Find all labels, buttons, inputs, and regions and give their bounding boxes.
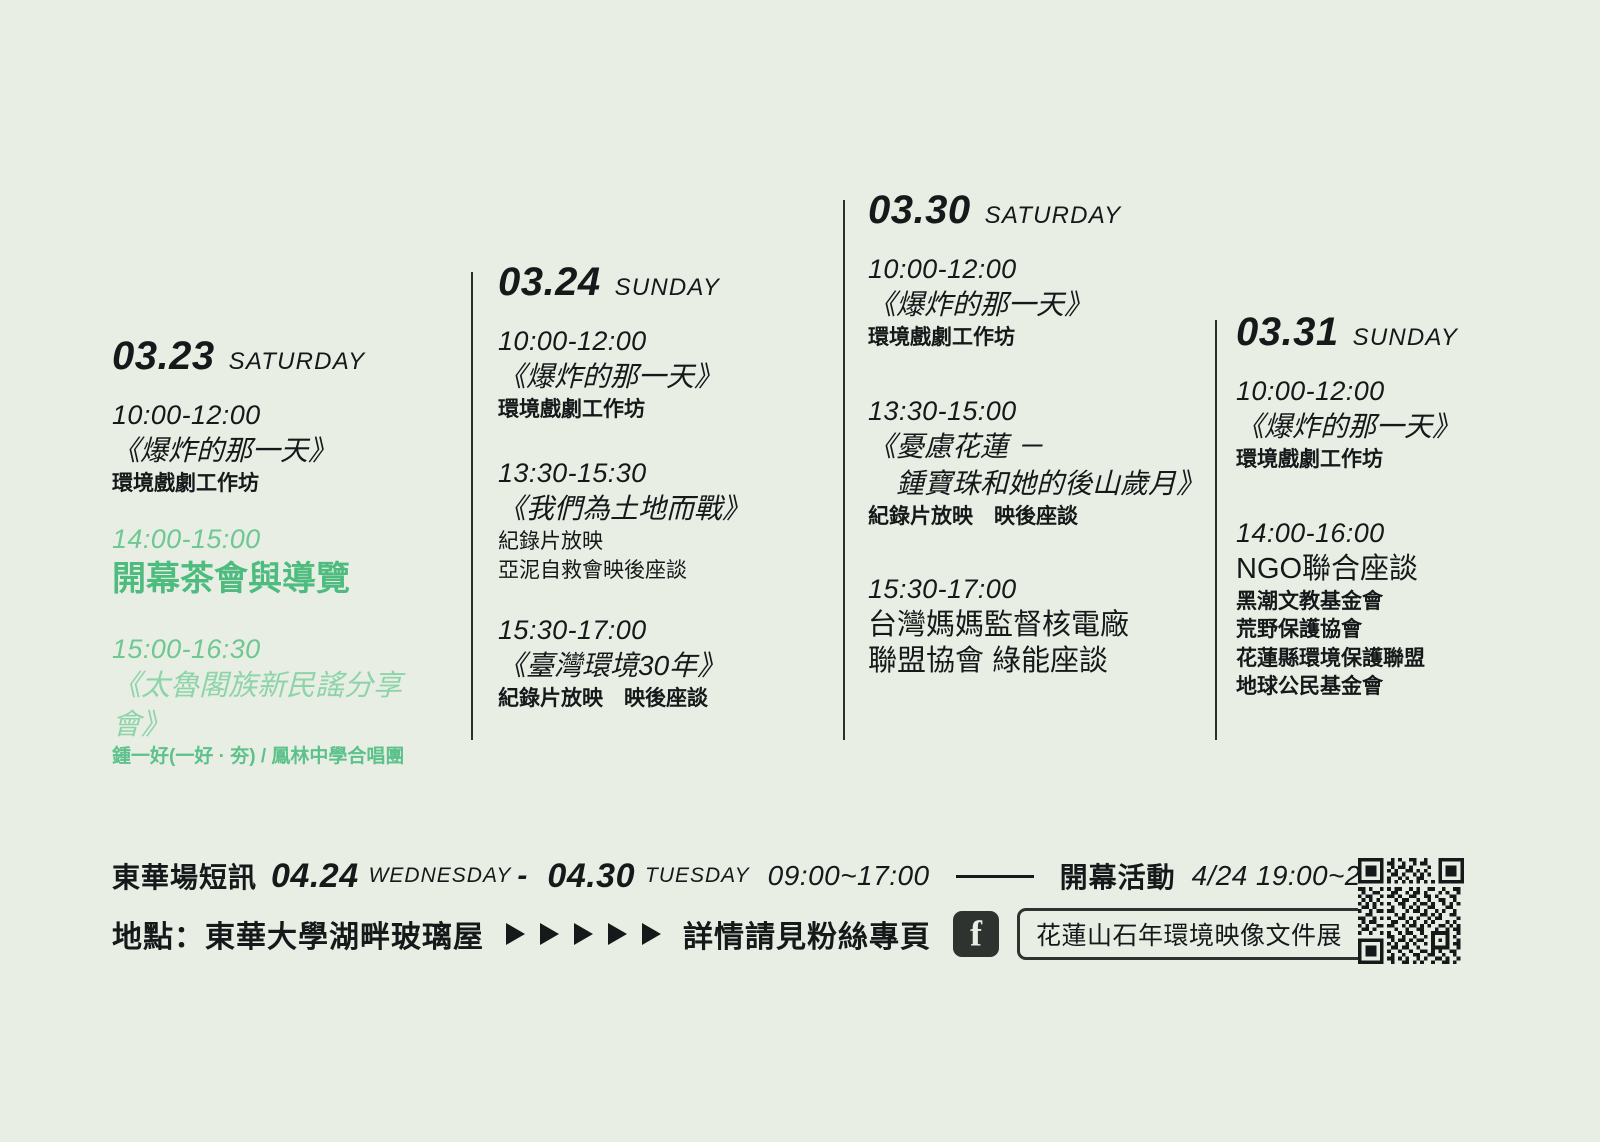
event-title: 《太魯閣族新民謠分享會》 bbox=[112, 667, 442, 744]
day-date: 03.30 bbox=[868, 190, 971, 230]
footer: 東華場短訊 04.24 WEDNESDAY - 04.30 TUESDAY 09… bbox=[0, 840, 1600, 980]
day-header: 03.24 SUNDAY bbox=[498, 262, 828, 302]
qr-code[interactable] bbox=[1358, 858, 1464, 964]
event-item: 15:00-16:30 《太魯閣族新民謠分享會》 鍾一好(一好 · 夯) / 鳳… bbox=[112, 632, 442, 770]
event-item: 13:30-15:30 《我們為土地而戰》 紀錄片放映 亞泥自救會映後座談 bbox=[498, 456, 828, 585]
event-title: 《憂慮花蓮 － 鍾寶珠和她的後山歲月》 bbox=[868, 429, 1198, 503]
column-divider-2 bbox=[843, 200, 845, 740]
event-item: 10:00-12:00 《爆炸的那一天》 環境戲劇工作坊 bbox=[498, 324, 828, 424]
day-weekday: SUNDAY bbox=[615, 276, 720, 300]
event-time: 10:00-12:00 bbox=[1236, 374, 1576, 409]
day-header: 03.30 SATURDAY bbox=[868, 190, 1198, 230]
event-item: 10:00-12:00 《爆炸的那一天》 環境戲劇工作坊 bbox=[868, 252, 1198, 352]
day-column-0330: 03.30 SATURDAY 10:00-12:00 《爆炸的那一天》 環境戲劇… bbox=[868, 190, 1198, 680]
triangle-right-icon bbox=[506, 923, 525, 945]
event-title: 《爆炸的那一天》 bbox=[112, 433, 442, 470]
fanpage-label: 詳情請見粉絲專頁 bbox=[683, 912, 931, 956]
start-weekday: WEDNESDAY bbox=[369, 864, 512, 888]
event-item: 10:00-12:00 《爆炸的那一天》 環境戲劇工作坊 bbox=[112, 398, 442, 498]
day-date: 03.23 bbox=[112, 336, 215, 376]
day-header: 03.31 SUNDAY bbox=[1236, 312, 1576, 352]
day-date: 03.31 bbox=[1236, 312, 1339, 352]
end-date: 04.30 bbox=[547, 857, 635, 896]
end-weekday: TUESDAY bbox=[645, 864, 750, 888]
event-time: 10:00-12:00 bbox=[868, 252, 1198, 287]
day-column-0331: 03.31 SUNDAY 10:00-12:00 《爆炸的那一天》 環境戲劇工作… bbox=[1236, 312, 1576, 701]
event-title: 《爆炸的那一天》 bbox=[498, 359, 828, 396]
event-subtitle: 環境戲劇工作坊 bbox=[112, 470, 442, 498]
arrow-markers bbox=[506, 923, 661, 945]
event-item: 13:30-15:00 《憂慮花蓮 － 鍾寶珠和她的後山歲月》 紀錄片放映 映後… bbox=[868, 394, 1198, 531]
event-time: 15:30-17:00 bbox=[498, 613, 828, 648]
day-header: 03.23 SATURDAY bbox=[112, 336, 442, 376]
column-divider-3 bbox=[1215, 320, 1217, 740]
event-title: NGO聯合座談 bbox=[1236, 551, 1576, 588]
event-time: 10:00-12:00 bbox=[112, 398, 442, 433]
day-weekday: SATURDAY bbox=[229, 350, 366, 374]
day-column-0324: 03.24 SUNDAY 10:00-12:00 《爆炸的那一天》 環境戲劇工作… bbox=[498, 262, 828, 714]
event-title: 開幕茶會與導覽 bbox=[112, 557, 442, 602]
opening-event-label: 開幕活動 bbox=[1060, 856, 1176, 896]
event-time: 13:30-15:00 bbox=[868, 394, 1198, 429]
event-item: 15:30-17:00 《臺灣環境30年》 紀錄片放映 映後座談 bbox=[498, 613, 828, 713]
footer-location-row: 地點：東華大學湖畔玻璃屋 詳情請見粉絲專頁 花蓮山石年環境映像文件展 bbox=[112, 908, 1421, 960]
event-note: 鍾一好(一好 · 夯) / 鳳林中學合唱團 bbox=[112, 744, 442, 770]
opening-hours: 09:00~17:00 bbox=[768, 860, 930, 892]
event-item: 10:00-12:00 《爆炸的那一天》 環境戲劇工作坊 bbox=[1236, 374, 1576, 474]
venue-label: 東華場短訊 bbox=[112, 856, 257, 896]
facebook-icon[interactable] bbox=[953, 911, 999, 957]
event-time: 14:00-16:00 bbox=[1236, 516, 1576, 551]
event-time: 14:00-15:00 bbox=[112, 522, 442, 557]
event-title: 《臺灣環境30年》 bbox=[498, 648, 828, 685]
footer-dates-row: 東華場短訊 04.24 WEDNESDAY - 04.30 TUESDAY 09… bbox=[112, 856, 1417, 896]
event-subtitle: 黑潮文教基金會 荒野保護協會 花蓮縣環境保護聯盟 地球公民基金會 bbox=[1236, 588, 1576, 701]
event-subtitle: 紀錄片放映 映後座談 bbox=[498, 685, 828, 713]
qr-code-svg bbox=[1358, 858, 1464, 964]
column-divider-1 bbox=[471, 272, 473, 740]
event-item: 14:00-15:00 開幕茶會與導覽 bbox=[112, 522, 442, 602]
day-weekday: SATURDAY bbox=[985, 204, 1122, 228]
triangle-right-icon bbox=[540, 923, 559, 945]
triangle-right-icon bbox=[574, 923, 593, 945]
event-title: 《爆炸的那一天》 bbox=[1236, 409, 1576, 446]
start-date: 04.24 bbox=[271, 857, 359, 896]
day-date: 03.24 bbox=[498, 262, 601, 302]
event-time: 10:00-12:00 bbox=[498, 324, 828, 359]
triangle-right-icon bbox=[608, 923, 627, 945]
horizontal-rule bbox=[956, 875, 1034, 878]
event-subtitle: 紀錄片放映 映後座談 bbox=[868, 503, 1198, 531]
day-column-0323: 03.23 SATURDAY 10:00-12:00 《爆炸的那一天》 環境戲劇… bbox=[112, 336, 442, 770]
event-time: 15:30-17:00 bbox=[868, 572, 1198, 607]
event-time: 13:30-15:30 bbox=[498, 456, 828, 491]
event-title: 《爆炸的那一天》 bbox=[868, 287, 1198, 324]
event-subtitle: 環境戲劇工作坊 bbox=[498, 396, 828, 424]
event-item: 14:00-16:00 NGO聯合座談 黑潮文教基金會 荒野保護協會 花蓮縣環境… bbox=[1236, 516, 1576, 701]
schedule-board: 03.23 SATURDAY 10:00-12:00 《爆炸的那一天》 環境戲劇… bbox=[0, 0, 1600, 800]
date-range-dash: - bbox=[517, 859, 527, 893]
event-title: 《我們為土地而戰》 bbox=[498, 491, 828, 528]
day-weekday: SUNDAY bbox=[1353, 326, 1458, 350]
search-input[interactable]: 花蓮山石年環境映像文件展 bbox=[1020, 911, 1358, 957]
location-label: 地點：東華大學湖畔玻璃屋 bbox=[112, 912, 484, 956]
event-title: 台灣媽媽監督核電廠 聯盟協會 綠能座談 bbox=[868, 607, 1198, 680]
event-item: 15:30-17:00 台灣媽媽監督核電廠 聯盟協會 綠能座談 bbox=[868, 572, 1198, 680]
event-subtitle: 環境戲劇工作坊 bbox=[868, 324, 1198, 352]
event-subtitle: 紀錄片放映 亞泥自救會映後座談 bbox=[498, 528, 828, 585]
triangle-right-icon bbox=[642, 923, 661, 945]
event-time: 15:00-16:30 bbox=[112, 632, 442, 667]
event-subtitle: 環境戲劇工作坊 bbox=[1236, 446, 1576, 474]
